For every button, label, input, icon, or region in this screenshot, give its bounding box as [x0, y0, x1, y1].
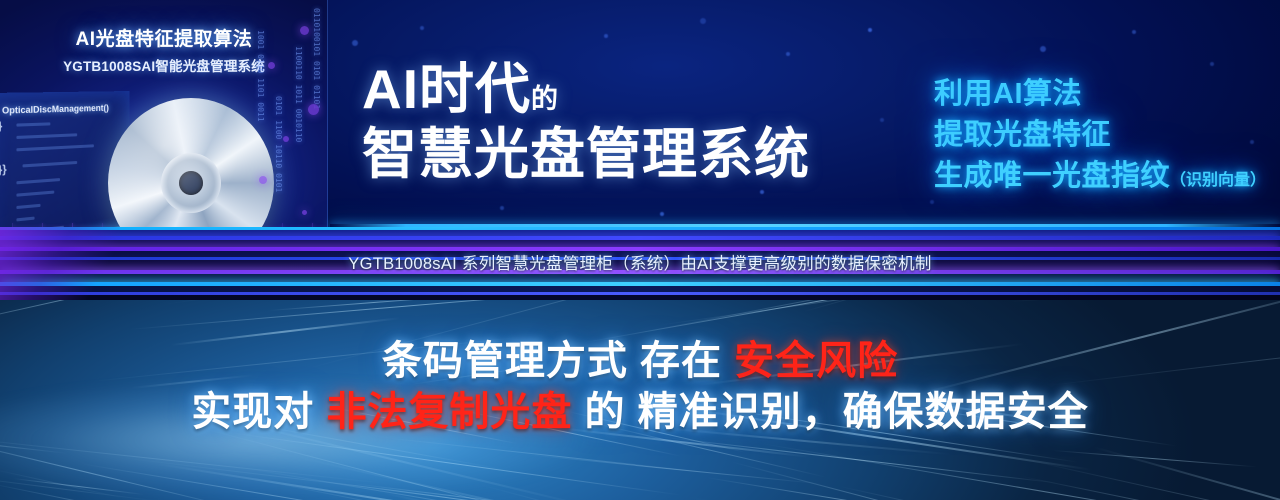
headline-line-1: AI时代的 — [362, 60, 922, 118]
top-section: AI光盘特征提取算法 YGTB1008SAI智能光盘管理系统 OpticalDi… — [0, 0, 1280, 300]
binary-stream-d: 1001 0110 1101 0011 — [256, 30, 265, 160]
code-brace-open: } — [0, 120, 2, 133]
promo-banner: AI光盘特征提取算法 YGTB1008SAI智能光盘管理系统 OpticalDi… — [0, 0, 1280, 500]
feature-bullet-3-note: （识别向量） — [1170, 172, 1266, 189]
code-brace-close: }} — [0, 163, 7, 176]
headline-line-1-small: 的 — [531, 84, 559, 114]
bottom-line-2-seg-3: 的 精准识别，确保数据安全 — [572, 390, 1088, 434]
headline-line-1-main: AI时代 — [362, 58, 531, 120]
feature-bullet-1-text: 利用AI算法 — [934, 78, 1082, 110]
feature-bullet-2: 提取光盘特征 — [934, 115, 1266, 156]
feature-bullet-list: 利用AI算法 提取光盘特征 生成唯一光盘指纹（识别向量） — [934, 74, 1266, 198]
feature-bullet-3: 生成唯一光盘指纹（识别向量） — [934, 156, 1266, 197]
sub-band-text: YGTB1008sAI 系列智慧光盘管理柜（系统）由AI支撑更高级别的数据保密机… — [0, 250, 1280, 274]
bottom-message-block: 条码管理方式 存在 安全风险 实现对 非法复制光盘 的 精准识别，确保数据安全 — [0, 336, 1280, 438]
headline-block: AI时代的 智慧光盘管理系统 — [362, 60, 922, 187]
bottom-line-2-seg-1: 实现对 — [191, 390, 326, 434]
feature-bullet-1: 利用AI算法 — [934, 74, 1266, 115]
bottom-line-2: 实现对 非法复制光盘 的 精准识别，确保数据安全 — [0, 387, 1280, 438]
feature-bullet-2-text: 提取光盘特征 — [934, 119, 1111, 151]
headline-line-2: 智慧光盘管理系统 — [362, 122, 922, 187]
binary-stream-c: 0101 1100 10110 0101 — [274, 96, 283, 216]
bottom-line-1-seg-1: 条码管理方式 存在 — [382, 339, 734, 383]
bottom-line-2-seg-2: 非法复制光盘 — [326, 390, 572, 434]
bottom-line-1: 条码管理方式 存在 安全风险 — [0, 336, 1280, 387]
code-method-label: OpticalDiscManagement() — [2, 103, 109, 116]
feature-bullet-3-text: 生成唯一光盘指纹 — [934, 160, 1170, 192]
bottom-line-1-seg-2: 安全风险 — [734, 339, 898, 383]
binary-stream-b: 1100110 1011 0010110 — [294, 46, 303, 156]
